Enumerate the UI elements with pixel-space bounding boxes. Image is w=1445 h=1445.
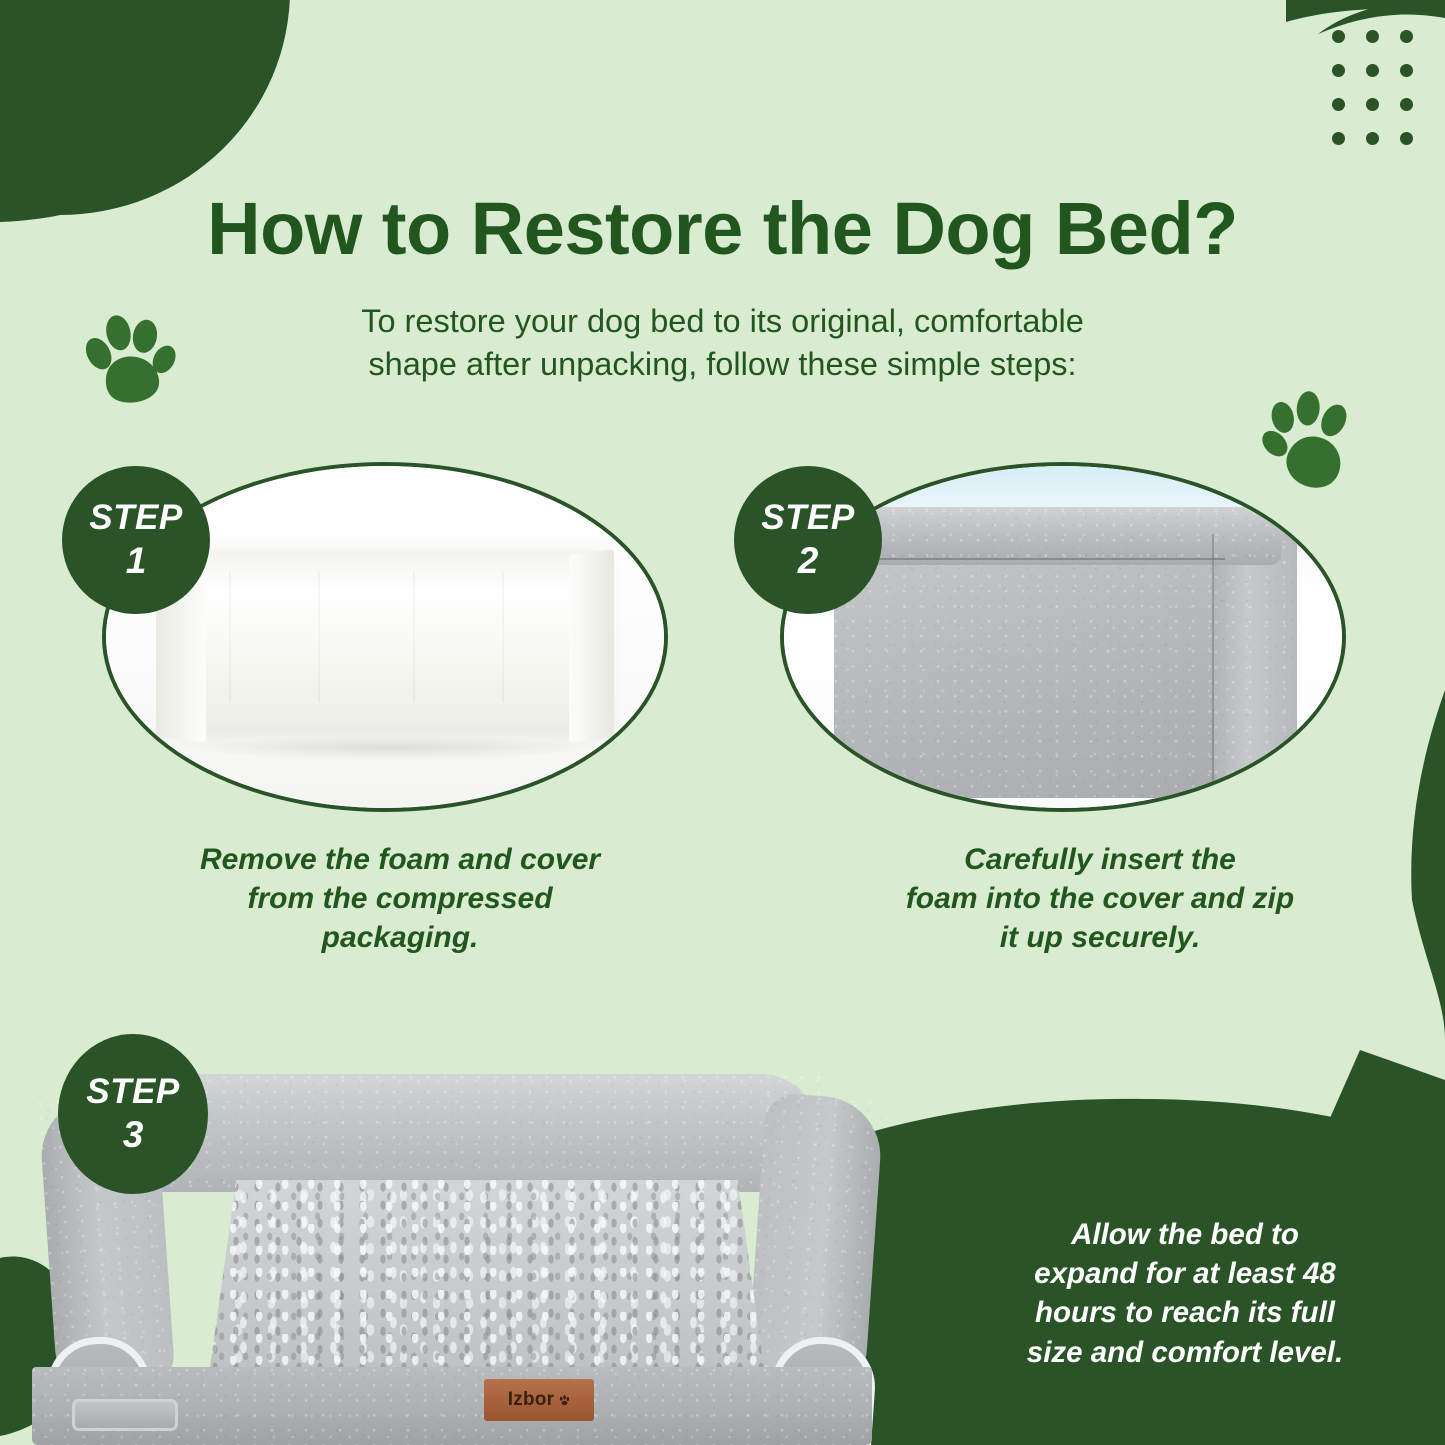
brand-name: Izbor [508, 1389, 554, 1411]
bed-care-label [72, 1399, 178, 1431]
grid-dot [1332, 30, 1345, 43]
grid-dot [1366, 98, 1379, 111]
step-1-caption: Remove the foam and cover from the compr… [120, 840, 680, 957]
step-3-badge-word: STEP [86, 1074, 179, 1110]
subtitle-line-1: To restore your dog bed to its original,… [0, 300, 1445, 343]
step-2-badge-word: STEP [761, 500, 854, 536]
grid-dot [1332, 64, 1345, 77]
step-1-badge-word: STEP [89, 500, 182, 536]
dot-grid-decoration [1332, 30, 1434, 166]
infographic-canvas: How to Restore the Dog Bed? To restore y… [0, 0, 1445, 1445]
step-3-badge: STEP 3 [58, 1034, 208, 1194]
top-left-circle [0, 0, 290, 215]
grid-dot [1332, 132, 1345, 145]
grid-dot [1400, 98, 1413, 111]
step-3-caption-line-4: size and comfort level. [960, 1333, 1410, 1372]
step-1-caption-line-2: from the compressed [120, 879, 680, 918]
package-shadow [184, 736, 597, 760]
step-2-caption-line-3: it up securely. [820, 918, 1380, 957]
package-crease [318, 572, 320, 702]
package-crease [502, 572, 504, 702]
step-2-caption: Carefully insert the foam into the cover… [820, 840, 1380, 957]
package-crease [413, 572, 415, 702]
brand-tag: Izbor [484, 1379, 594, 1421]
package-body [173, 552, 608, 730]
step-3-caption: Allow the bed to expand for at least 48 … [960, 1215, 1410, 1372]
grid-dot [1366, 30, 1379, 43]
grid-dot [1400, 64, 1413, 77]
step-3-caption-line-2: expand for at least 48 [960, 1254, 1410, 1293]
step-2-badge: STEP 2 [734, 466, 882, 614]
step-1-caption-line-1: Remove the foam and cover [120, 840, 680, 879]
package-flap-right [569, 549, 614, 743]
step-1-badge: STEP 1 [62, 466, 210, 614]
step-2-badge-number: 2 [798, 542, 819, 580]
step-1-caption-line-3: packaging. [120, 918, 680, 957]
right-wedge [1411, 690, 1445, 1040]
page-title: How to Restore the Dog Bed? [0, 186, 1445, 271]
bed-bolster-back [120, 1074, 820, 1192]
grid-dot [1400, 132, 1413, 145]
step-3-caption-line-1: Allow the bed to [960, 1215, 1410, 1254]
step-3-badge-number: 3 [123, 1116, 144, 1154]
grid-dot [1366, 64, 1379, 77]
page-subtitle: To restore your dog bed to its original,… [0, 300, 1445, 386]
package-crease [229, 572, 231, 702]
bed-front-panel: Izbor [32, 1367, 872, 1445]
grid-dot [1366, 132, 1379, 145]
step-2-caption-line-1: Carefully insert the [820, 840, 1380, 879]
grid-dot [1332, 98, 1345, 111]
fabric-texture [120, 1074, 820, 1192]
subtitle-line-2: shape after unpacking, follow these simp… [0, 343, 1445, 386]
step-2-caption-line-2: foam into the cover and zip [820, 879, 1380, 918]
step-3-caption-line-3: hours to reach its full [960, 1293, 1410, 1332]
cover-inner-wall [834, 558, 1225, 797]
fabric-texture [834, 558, 1225, 797]
brand-paw-icon [559, 1395, 570, 1406]
step-1-badge-number: 1 [126, 542, 147, 580]
grid-dot [1400, 30, 1413, 43]
cover-seam-horizontal [834, 558, 1225, 560]
cover-seam-vertical [1212, 534, 1214, 787]
